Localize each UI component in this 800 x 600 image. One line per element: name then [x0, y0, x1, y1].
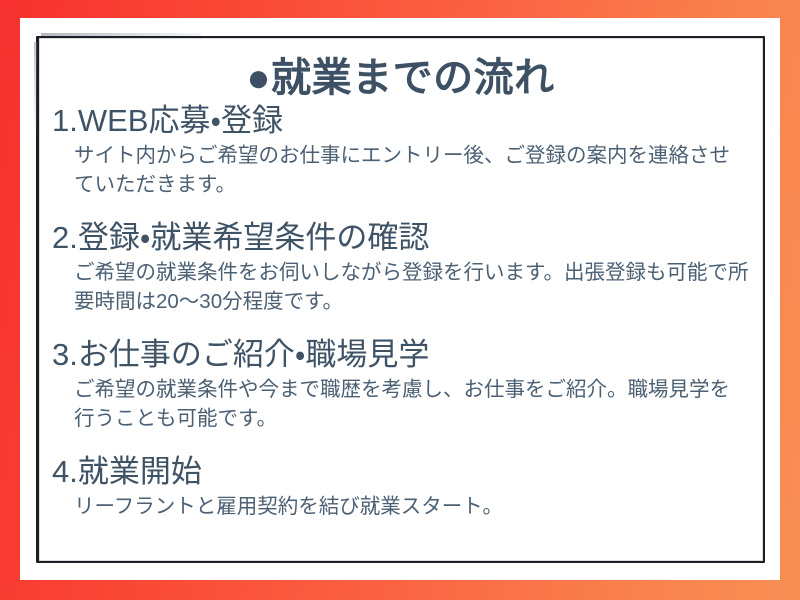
- step-item-4: 4.就業開始 リーフラントと雇用契約を結び就業スタート。: [52, 453, 749, 521]
- step-body-4: リーフラントと雇用契約を結び就業スタート。: [74, 492, 749, 521]
- step-item-3: 3.お仕事のご紹介・職場見学 ご希望の就業条件や今まで職歴を考慮し、お仕事をご紹…: [52, 336, 749, 433]
- step-heading-2: 2.登録・就業希望条件の確認: [52, 219, 749, 257]
- white-card: ●就業までの流れ 1.WEB応募・登録 サイト内からご希望のお仕事にエントリー後…: [20, 18, 780, 580]
- inner-border-frame: ●就業までの流れ 1.WEB応募・登録 サイト内からご希望のお仕事にエントリー後…: [36, 36, 765, 563]
- step-item-2: 2.登録・就業希望条件の確認 ご希望の就業条件をお伺いしながら登録を行います。出…: [52, 219, 749, 316]
- step-body-3: ご希望の就業条件や今まで職歴を考慮し、お仕事をご紹介。職場見学を行うことも可能で…: [74, 375, 749, 433]
- step-body-1: サイト内からご希望のお仕事にエントリー後、ご登録の案内を連絡させていただきます。: [74, 141, 749, 199]
- step-heading-3: 3.お仕事のご紹介・職場見学: [52, 336, 749, 374]
- slide-root: ●就業までの流れ 1.WEB応募・登録 サイト内からご希望のお仕事にエントリー後…: [0, 0, 800, 600]
- step-heading-4: 4.就業開始: [52, 453, 749, 491]
- step-body-2: ご希望の就業条件をお伺いしながら登録を行います。出張登録も可能で所要時間は20〜…: [74, 258, 749, 316]
- step-heading-1: 1.WEB応募・登録: [52, 102, 749, 140]
- page-title: ●就業までの流れ: [52, 58, 749, 98]
- step-item-1: 1.WEB応募・登録 サイト内からご希望のお仕事にエントリー後、ご登録の案内を連…: [52, 102, 749, 199]
- content-area: ●就業までの流れ 1.WEB応募・登録 サイト内からご希望のお仕事にエントリー後…: [39, 38, 763, 561]
